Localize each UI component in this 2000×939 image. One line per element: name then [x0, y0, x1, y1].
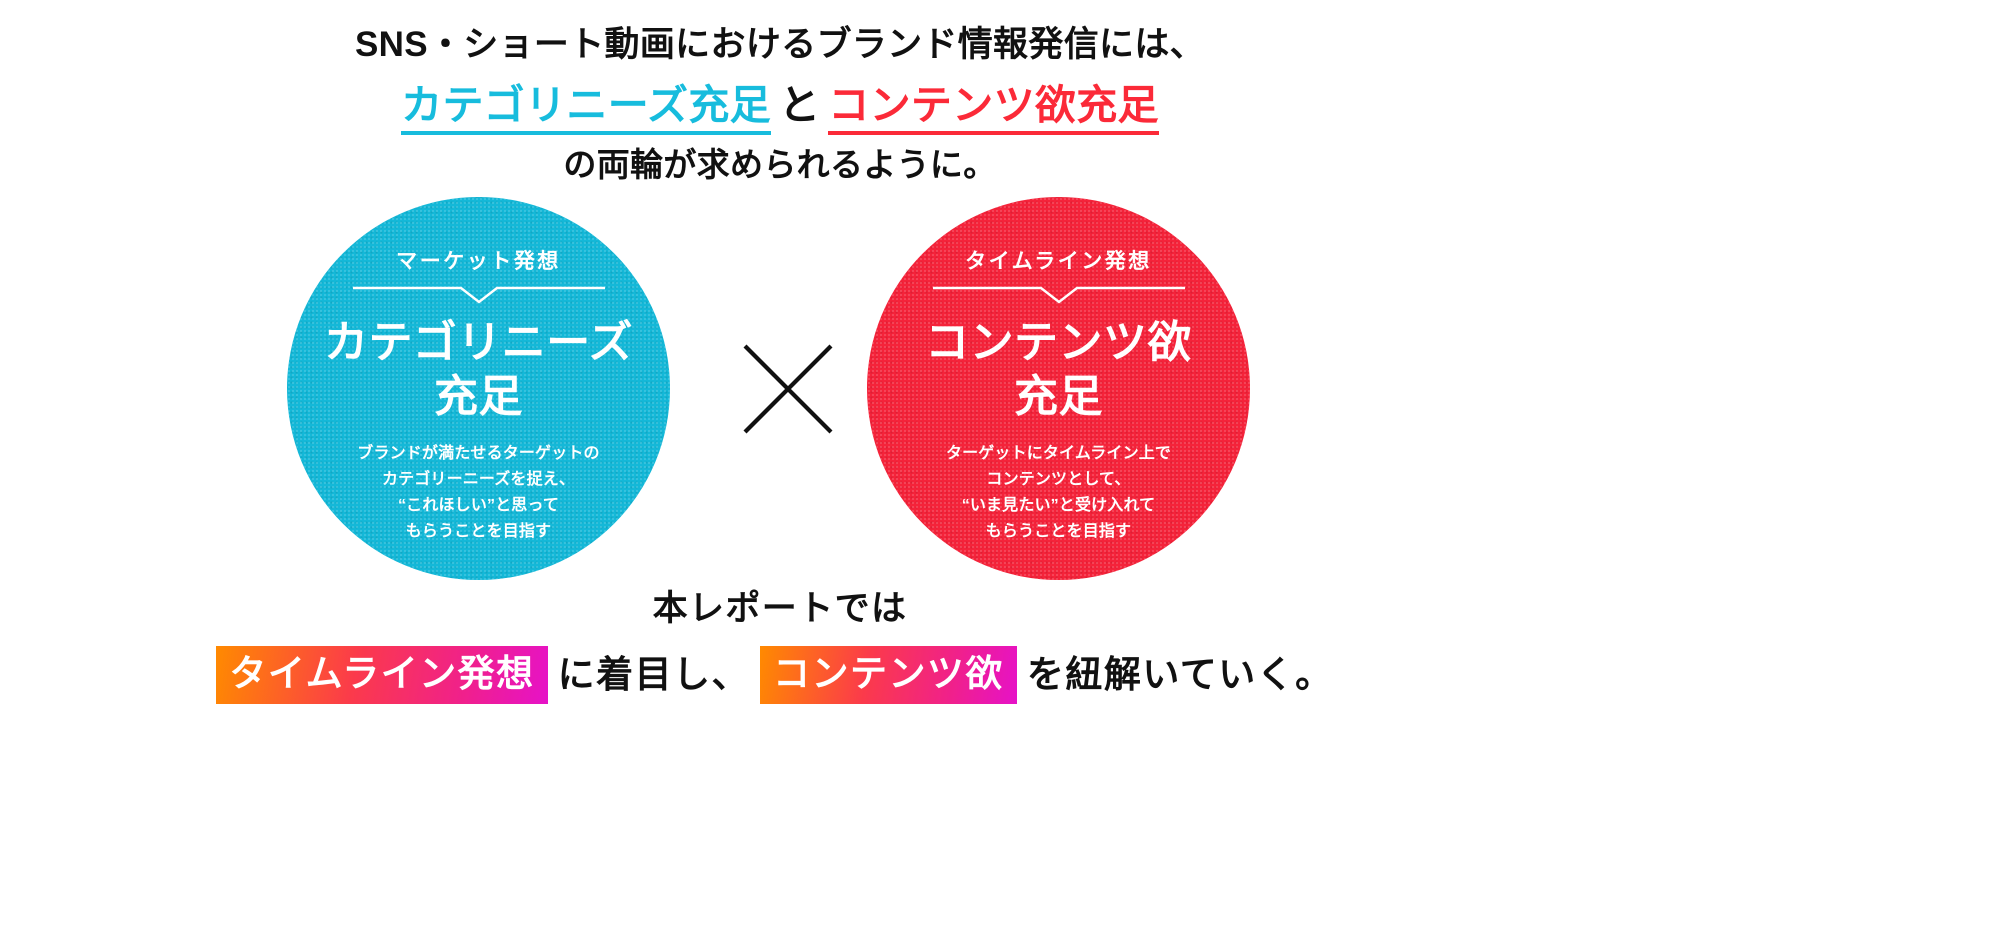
headline-conjunction: と	[771, 82, 828, 128]
circle-description-content-desire: ターゲットにタイムライン上で コンテンツとして、 “いま見たい”と受け入れて も…	[946, 441, 1171, 545]
multiply-x-icon	[742, 343, 834, 435]
circle-category-needs: マーケット発想 カテゴリニーズ 充足 ブランドが満たせるターゲットの カテゴリー…	[287, 197, 670, 580]
bottom-connector-1: に着目し、	[548, 654, 760, 695]
label-underline-notch-icon	[353, 286, 605, 304]
highlight-chip-content-desire: コンテンツ欲	[760, 646, 1017, 704]
circle-title-line-1: カテゴリニーズ	[324, 316, 633, 370]
circle-desc-line: コンテンツとして、	[946, 467, 1171, 493]
headline-line-1: SNS・ショート動画におけるブランド情報発信には、	[0, 22, 1560, 68]
circle-label-market-thinking: マーケット発想	[396, 251, 561, 272]
headline-block: SNS・ショート動画におけるブランド情報発信には、 カテゴリニーズ充足とコンテン…	[0, 22, 1560, 187]
bottom-tail: を紐解いていく。	[1017, 654, 1344, 695]
bottom-line-1: 本レポートでは	[0, 588, 1560, 630]
headline-line-3: の両輪が求められるように。	[0, 143, 1560, 187]
slide-canvas: SNS・ショート動画におけるブランド情報発信には、 カテゴリニーズ充足とコンテン…	[0, 0, 2000, 939]
circle-desc-line: カテゴリーニーズを捉え、	[357, 467, 599, 493]
circle-title-content-desire: コンテンツ欲 充足	[925, 316, 1192, 423]
headline-term-content-desire: コンテンツ欲充足	[828, 82, 1159, 135]
circle-label-timeline-thinking: タイムライン発想	[965, 251, 1152, 272]
circle-title-category-needs: カテゴリニーズ 充足	[324, 316, 633, 423]
circle-title-line-2: 充足	[324, 370, 633, 424]
headline-line-2: カテゴリニーズ充足とコンテンツ欲充足	[0, 78, 1560, 132]
circle-desc-line: もらうことを目指す	[357, 519, 599, 545]
headline-term-category-needs: カテゴリニーズ充足	[401, 82, 771, 135]
circle-content-desire: タイムライン発想 コンテンツ欲 充足 ターゲットにタイムライン上で コンテンツと…	[867, 197, 1250, 580]
bottom-statement-block: 本レポートでは タイムライン発想に着目し、コンテンツ欲を紐解いていく。	[0, 588, 1560, 704]
circle-title-line-1: コンテンツ欲	[925, 316, 1192, 370]
circle-desc-line: ブランドが満たせるターゲットの	[357, 441, 599, 467]
circle-description-category-needs: ブランドが満たせるターゲットの カテゴリーニーズを捉え、 “これほしい”と思って…	[357, 441, 599, 545]
bottom-line-2: タイムライン発想に着目し、コンテンツ欲を紐解いていく。	[0, 646, 1560, 704]
circle-title-line-2: 充足	[925, 370, 1192, 424]
circle-desc-line: “これほしい”と思って	[357, 493, 599, 519]
circle-desc-line: ターゲットにタイムライン上で	[946, 441, 1171, 467]
highlight-chip-timeline-thinking: タイムライン発想	[216, 646, 547, 704]
circle-desc-line: もらうことを目指す	[946, 519, 1171, 545]
label-underline-notch-icon	[933, 286, 1185, 304]
circle-desc-line: “いま見たい”と受け入れて	[946, 493, 1171, 519]
